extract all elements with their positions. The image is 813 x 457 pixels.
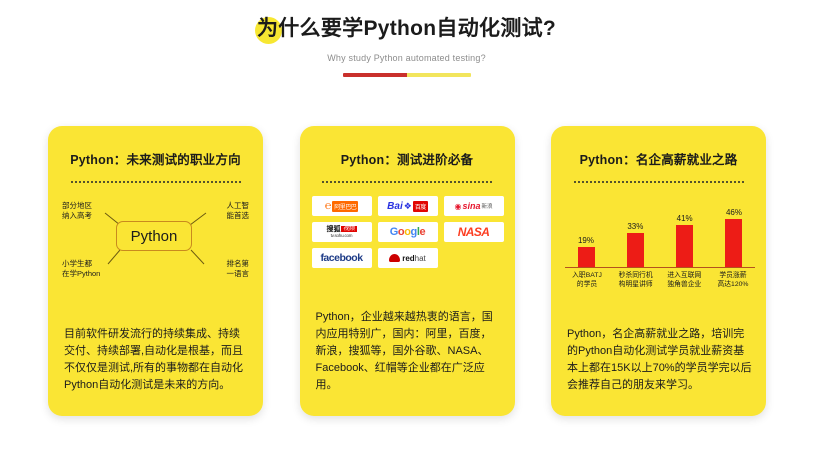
card-title: Python：测试进阶必备 xyxy=(312,149,503,168)
card-body-text: Python，企业越来越热衷的语言，国内应用特别广，国内：阿里，百度，新浪，搜狐… xyxy=(316,309,501,394)
mindmap-diagram: 部分地区 纳入高考 人工智 能首选 小学生都 在学Python 排名第 一语言 … xyxy=(60,195,251,281)
baidu-paw-icon: ❖ xyxy=(404,201,412,212)
nasa-logo-text: NASA xyxy=(458,225,490,239)
bar xyxy=(676,225,693,267)
card-dotted-divider xyxy=(71,181,241,183)
card-career-direction[interactable]: Python：未来测试的职业方向 部分地区 纳入高考 人工智 能首选 小学生都 … xyxy=(48,126,263,416)
baidu-logo: Bai ❖ 百度 xyxy=(378,196,438,216)
mindmap-label-top-right: 人工智 能首选 xyxy=(227,201,250,221)
card-title: Python：未来测试的职业方向 xyxy=(60,149,251,168)
mindmap-label-bottom-right: 排名第 一语言 xyxy=(227,259,250,279)
chart-category-label: 入职BATJ 的学员 xyxy=(563,271,611,289)
chart-category-line: 独角兽企业 xyxy=(660,280,708,289)
sohu-logo-url: tv.sohu.com xyxy=(331,234,353,239)
mindmap-label-top-left: 部分地区 纳入高考 xyxy=(62,201,92,221)
mindmap-label-line: 能首选 xyxy=(227,211,250,221)
mindmap-label-line: 部分地区 xyxy=(62,201,92,211)
page-subtitle: Why study Python automated testing? xyxy=(0,53,813,63)
chart-baseline-axis xyxy=(565,267,755,269)
sohu-video-tag: 视频 xyxy=(341,226,356,232)
mindmap-label-line: 人工智 xyxy=(227,201,250,211)
card-testing-essentials[interactable]: Python：测试进阶必备 ℮ 阿里巴巴 Bai ❖ 百度 ◉ sina xyxy=(300,126,515,416)
divider-segment-red xyxy=(343,73,407,77)
redhat-logo: redhat xyxy=(378,248,438,268)
facebook-logo: facebook xyxy=(312,248,372,268)
header-divider xyxy=(343,73,471,77)
baidu-logo-cn-text: 百度 xyxy=(413,201,428,212)
bar-column: 46% xyxy=(711,193,757,267)
alibaba-logo-text: 阿里巴巴 xyxy=(332,201,358,212)
card-employment-path[interactable]: Python：名企高薪就业之路 19% 33% 41% 46% xyxy=(551,126,766,416)
facebook-logo-text: facebook xyxy=(320,252,362,264)
sina-eye-icon: ◉ xyxy=(454,202,461,211)
chart-category-line: 构明星讲师 xyxy=(612,280,660,289)
google-logo: Google xyxy=(378,222,438,242)
page-title-wrap: 为什么要学Python自动化测试? xyxy=(251,14,562,44)
sina-logo: ◉ sina 新浪 xyxy=(444,196,504,216)
redhat-logo-text-hat: hat xyxy=(415,254,426,263)
chart-category-label: 学员涨薪 高达120% xyxy=(709,271,757,289)
redhat-logo-text-red: red xyxy=(402,254,414,263)
bar xyxy=(627,233,644,267)
mindmap-label-line: 在学Python xyxy=(62,269,100,279)
chart-category-line: 进入互联网 xyxy=(660,271,708,280)
chart-category-line: 学员涨薪 xyxy=(709,271,757,280)
chart-category-line: 秒杀同行机 xyxy=(612,271,660,280)
company-logo-grid: ℮ 阿里巴巴 Bai ❖ 百度 ◉ sina 新浪 xyxy=(312,196,504,268)
chart-category-labels: 入职BATJ 的学员 秒杀同行机 构明星讲师 进入互联网 独角兽企业 学员涨薪 … xyxy=(563,271,757,289)
bar xyxy=(725,219,742,267)
page-header: 为什么要学Python自动化测试? Why study Python autom… xyxy=(0,0,813,77)
mindmap-label-line: 排名第 xyxy=(227,259,250,269)
employment-bar-chart: 19% 33% 41% 46% 入职BATJ xyxy=(563,193,757,289)
chart-category-line: 高达120% xyxy=(709,280,757,289)
google-logo-text: Google xyxy=(390,226,426,238)
sina-logo-cn-text: 新浪 xyxy=(481,202,492,210)
mindmap-center-node: Python xyxy=(116,221,192,251)
card-title: Python：名企高薪就业之路 xyxy=(563,149,754,168)
bar-column: 41% xyxy=(662,193,708,267)
redhat-hat-icon xyxy=(389,254,400,262)
bar-column: 33% xyxy=(612,193,658,267)
bar-value-label: 19% xyxy=(578,236,594,245)
nasa-logo: NASA xyxy=(444,222,504,242)
chart-category-line: 入职BATJ xyxy=(563,271,611,280)
sohu-video-logo: 搜狐 视频 tv.sohu.com xyxy=(312,222,372,242)
mindmap-label-line: 纳入高考 xyxy=(62,211,92,221)
card-dotted-divider xyxy=(574,181,744,183)
chart-category-label: 进入互联网 独角兽企业 xyxy=(660,271,708,289)
chart-category-label: 秒杀同行机 构明星讲师 xyxy=(612,271,660,289)
sina-logo-text: sina xyxy=(462,201,480,211)
bar-column: 19% xyxy=(563,193,609,267)
bar-value-label: 33% xyxy=(627,222,643,231)
chart-plot-area: 19% 33% 41% 46% xyxy=(563,193,757,267)
page-title: 为什么要学Python自动化测试? xyxy=(257,14,556,44)
alibaba-logo: ℮ 阿里巴巴 xyxy=(312,196,372,216)
alibaba-mark-icon: ℮ xyxy=(325,200,332,212)
bar-value-label: 41% xyxy=(677,214,693,223)
logo-grid-spacer xyxy=(444,248,504,268)
mindmap-label-bottom-left: 小学生都 在学Python xyxy=(62,259,100,279)
card-body-text: Python，名企高薪就业之路，培训完的Python自动化测试学员就业薪资基本上… xyxy=(567,326,752,394)
card-body-text: 目前软件研发流行的持续集成、持续交付、持续部署,自动化是根基，而且不仅仅是测试,… xyxy=(64,326,249,394)
divider-segment-yellow xyxy=(407,73,471,77)
mindmap-label-line: 一语言 xyxy=(227,269,250,279)
chart-category-line: 的学员 xyxy=(563,280,611,289)
cards-row: Python：未来测试的职业方向 部分地区 纳入高考 人工智 能首选 小学生都 … xyxy=(48,126,766,416)
baidu-logo-text: Bai xyxy=(387,201,403,212)
bar-value-label: 46% xyxy=(726,208,742,217)
mindmap-label-line: 小学生都 xyxy=(62,259,100,269)
bar xyxy=(578,247,595,267)
sohu-logo-text: 搜狐 xyxy=(326,226,340,233)
card-dotted-divider xyxy=(322,181,492,183)
